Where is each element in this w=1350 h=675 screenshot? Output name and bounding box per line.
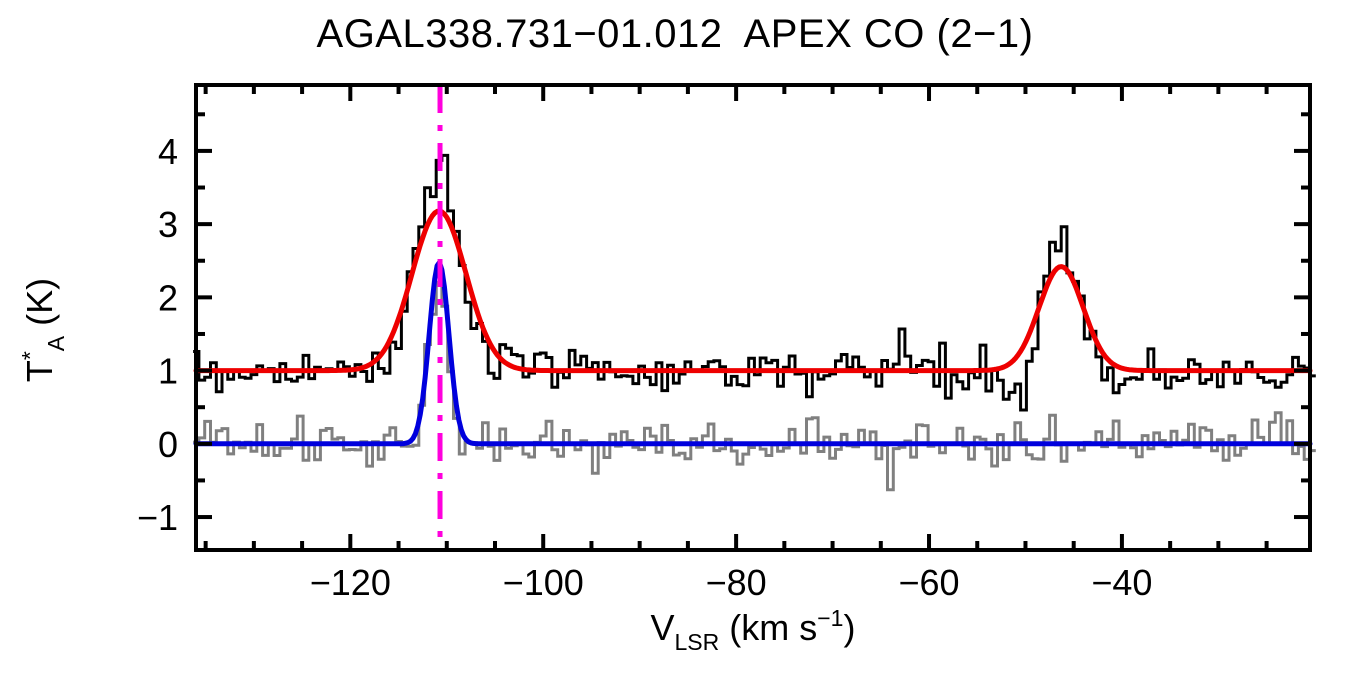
- x-axis-label-sub: LSR: [675, 629, 720, 655]
- axes-frame: [196, 85, 1310, 550]
- y-axis-label: T*A (K): [17, 278, 69, 382]
- x-axis-label-sup: −1: [817, 605, 843, 631]
- x-tick-label: −100: [503, 562, 584, 603]
- y-tick-label: 3: [158, 204, 178, 245]
- gaussian-fit-blue: [196, 262, 1310, 443]
- y-axis-label-sub: A: [43, 335, 69, 351]
- y-tick-label: 0: [158, 424, 178, 465]
- spectrum-figure: AGAL338.731−01.012 APEX CO (2−1) −120−10…: [0, 0, 1350, 675]
- y-tick-labels: 43210−1: [137, 131, 178, 538]
- y-tick-label: 1: [158, 351, 178, 392]
- x-tick-label: −80: [706, 562, 767, 603]
- x-tick-label: −120: [310, 562, 391, 603]
- x-axis-label: VLSR (km s−1): [651, 605, 856, 655]
- y-tick-label: 2: [158, 277, 178, 318]
- y-axis-label-main: T: [19, 360, 60, 382]
- y-tick-label: −1: [137, 497, 178, 538]
- residual-spectrum: [193, 282, 1316, 489]
- y-axis-label-unit: (K): [19, 278, 60, 336]
- x-axis-label-unit-open: (km s: [719, 607, 817, 648]
- x-tick-label: −60: [898, 562, 959, 603]
- x-axis-label-main: V: [651, 607, 675, 648]
- y-axis-label-sup: *: [17, 351, 43, 360]
- y-tick-label: 4: [158, 131, 178, 172]
- x-tick-labels: −120−100−80−60−40: [310, 562, 1153, 603]
- x-axis-label-unit-close: ): [843, 607, 855, 648]
- spectrum-plot: −120−100−80−60−40 43210−1 VLSR (km s−1) …: [0, 0, 1350, 675]
- x-tick-label: −40: [1091, 562, 1152, 603]
- data-series-layer: [193, 155, 1316, 489]
- gaussian-fit-red: [196, 211, 1310, 371]
